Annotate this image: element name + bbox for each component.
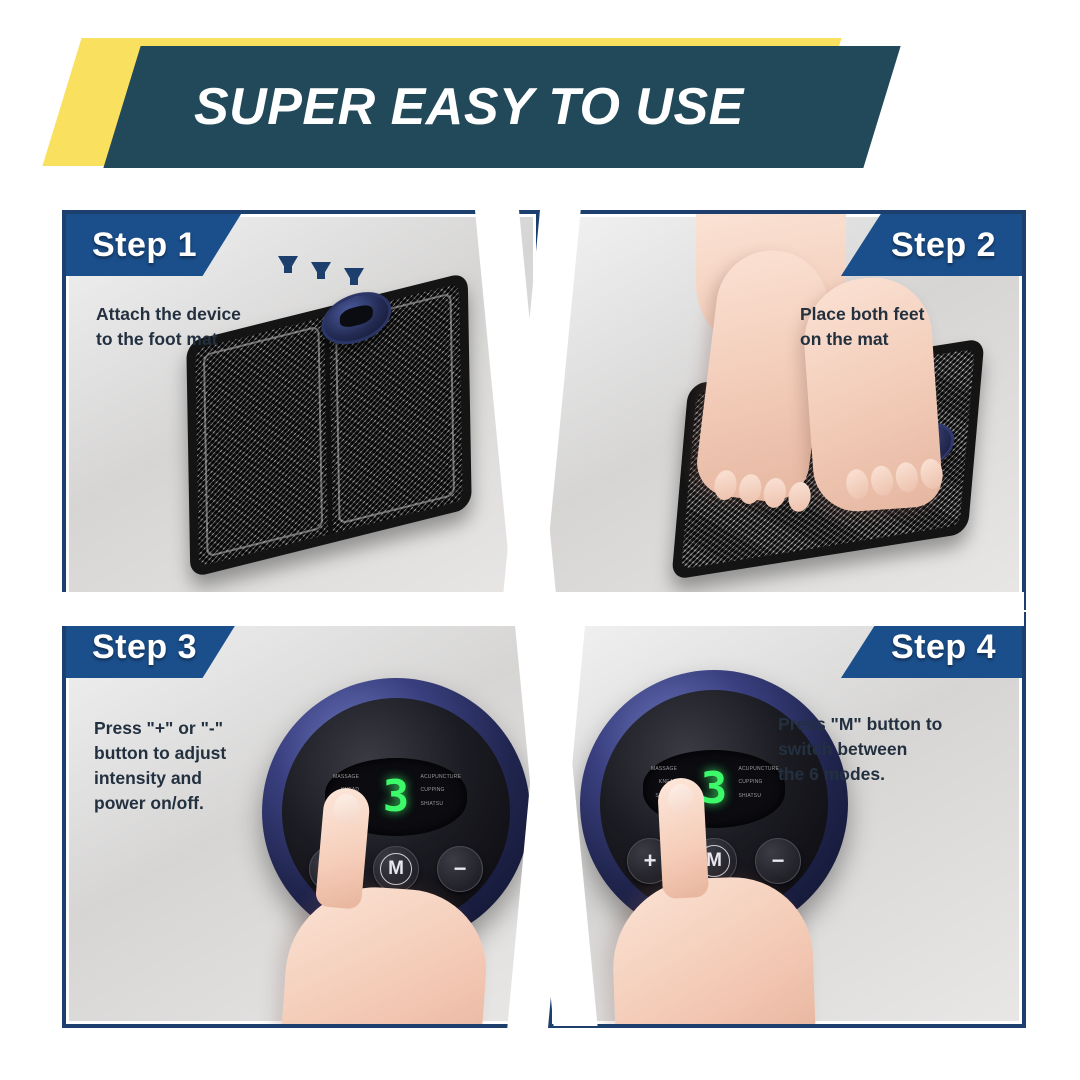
header-banner: SUPER EASY TO USE xyxy=(0,0,1080,200)
minus-button[interactable]: − xyxy=(755,838,801,884)
mode-label: MASSAGE xyxy=(651,766,677,772)
mode-label: CUPPING xyxy=(738,779,762,785)
step-1-label: Step 1 xyxy=(92,226,197,265)
step-panel-2: Step 2 Place both feet on the mat xyxy=(542,210,1026,610)
toe xyxy=(869,464,895,497)
banner-main-shape: SUPER EASY TO USE xyxy=(103,46,900,168)
mode-label: SHIATSU xyxy=(420,801,443,807)
step-3-caption: Press "+" or "-" button to adjust intens… xyxy=(94,716,226,815)
down-arrow-icon xyxy=(311,262,331,279)
fingernail xyxy=(332,793,361,825)
step-2-caption: Place both feet on the mat xyxy=(800,302,924,352)
step-panel-1: Step 1 Attach the device to the foot mat xyxy=(62,210,540,610)
intensity-level-display: 3 xyxy=(383,775,410,819)
page-title: SUPER EASY TO USE xyxy=(194,77,744,137)
minus-button[interactable]: − xyxy=(437,846,483,892)
mat-pad-left xyxy=(203,325,323,557)
step-4-caption: Press "M" button to switch between the 6… xyxy=(778,712,942,787)
step-panel-3: MASSAGE KNEAD SCRAPE 3 ACUPUNCTURE CUPPI… xyxy=(62,612,546,1028)
mode-label: ACUPUNCTURE xyxy=(420,774,461,780)
mode-labels-right: ACUPUNCTURE CUPPING SHIATSU xyxy=(738,766,779,799)
step-1-caption: Attach the device to the foot mat xyxy=(96,302,241,352)
step-panel-4: MASSAGE KNEAD SCRAPE 3 ACUPUNCTURE CUPPI… xyxy=(548,612,1026,1028)
toe xyxy=(786,480,812,513)
toe xyxy=(737,473,763,506)
mode-label: CUPPING xyxy=(420,787,444,793)
mode-button[interactable]: M xyxy=(373,846,419,892)
toe xyxy=(894,461,920,494)
step-4-label: Step 4 xyxy=(891,628,996,667)
toe xyxy=(919,457,945,490)
step-3-label: Step 3 xyxy=(92,628,197,667)
toe xyxy=(844,468,870,501)
mode-label: SHIATSU xyxy=(738,793,761,799)
down-arrow-icon xyxy=(278,256,298,273)
mode-label: MASSAGE xyxy=(333,774,359,780)
mode-label: ACUPUNCTURE xyxy=(738,766,779,772)
attach-direction-arrows xyxy=(278,256,364,285)
toe xyxy=(712,469,738,502)
intensity-level-display: 3 xyxy=(701,767,728,811)
toe xyxy=(762,476,788,509)
pointing-finger xyxy=(657,777,709,899)
mode-labels-right: ACUPUNCTURE CUPPING SHIATSU xyxy=(420,774,461,807)
down-arrow-icon xyxy=(344,268,364,285)
fingernail xyxy=(667,783,695,814)
steps-grid: Step 1 Attach the device to the foot mat xyxy=(62,210,1018,1020)
step-2-label: Step 2 xyxy=(891,226,996,265)
